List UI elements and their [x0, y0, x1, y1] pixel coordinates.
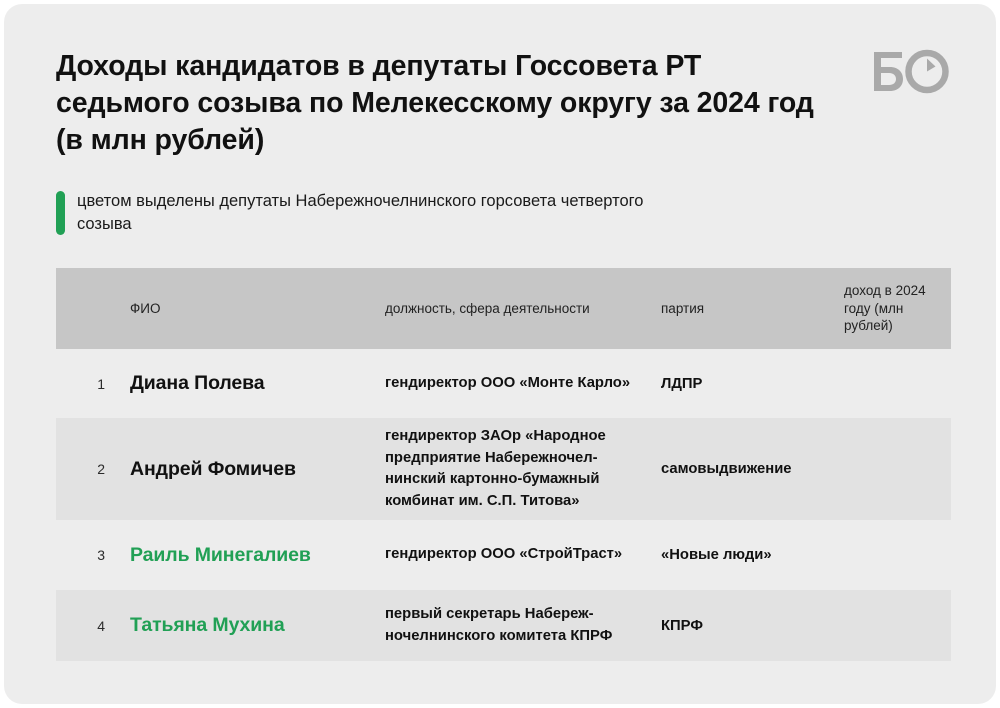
- row-position: первый секретарь Набереж­ночелнинского к…: [385, 604, 661, 647]
- row-index: 1: [56, 376, 105, 392]
- column-header-income: доход в 2024 году (млн рублей): [844, 282, 951, 335]
- row-name: Татьяна Мухина: [105, 614, 385, 637]
- page-title: Доходы кандидатов в депутаты Госсовета Р…: [56, 48, 826, 159]
- row-party: самовыдвижение: [661, 461, 844, 477]
- legend-label: цветом выделены депутаты Набережночелнин…: [77, 190, 677, 236]
- infographic-page: Доходы кандидатов в депутаты Госсовета Р…: [0, 0, 1000, 708]
- row-name: Андрей Фомичев: [105, 458, 385, 481]
- table-row: 4 Татьяна Мухина первый секретарь Набере…: [56, 590, 951, 661]
- table-header-row: ФИО должность, сфера деятельности партия…: [56, 268, 951, 349]
- table-row: 2 Андрей Фомичев гендиректор ЗАОр «Народ…: [56, 418, 951, 520]
- legend-color-swatch: [56, 191, 65, 235]
- row-name: Раиль Минегалиев: [105, 544, 385, 567]
- row-index: 3: [56, 547, 105, 563]
- clock-icon: [872, 48, 950, 94]
- content-card: Доходы кандидатов в депутаты Госсовета Р…: [4, 4, 996, 704]
- legend: цветом выделены депутаты Набережночелнин…: [56, 190, 677, 236]
- row-position: гендиректор ООО «Монте Карло»: [385, 373, 661, 395]
- row-index: 2: [56, 461, 105, 477]
- column-header-position: должность, сфера деятельности: [385, 300, 661, 318]
- column-header-name: ФИО: [105, 300, 385, 318]
- row-position: гендиректор ООО «СтройТраст»: [385, 544, 661, 566]
- row-name: Диана Полева: [105, 372, 385, 395]
- column-header-party: партия: [661, 300, 844, 318]
- table-row: 3 Раиль Минегалиев гендиректор ООО «Стро…: [56, 520, 951, 590]
- table-row: 1 Диана Полева гендиректор ООО «Монте Ка…: [56, 349, 951, 418]
- row-position: гендиректор ЗАОр «Народное предприятие Н…: [385, 426, 661, 512]
- row-index: 4: [56, 618, 105, 634]
- row-party: «Новые люди»: [661, 547, 844, 563]
- brand-logo: [872, 48, 950, 94]
- row-party: ЛДПР: [661, 376, 844, 392]
- candidates-table: ФИО должность, сфера деятельности партия…: [56, 268, 951, 661]
- row-party: КПРФ: [661, 618, 844, 634]
